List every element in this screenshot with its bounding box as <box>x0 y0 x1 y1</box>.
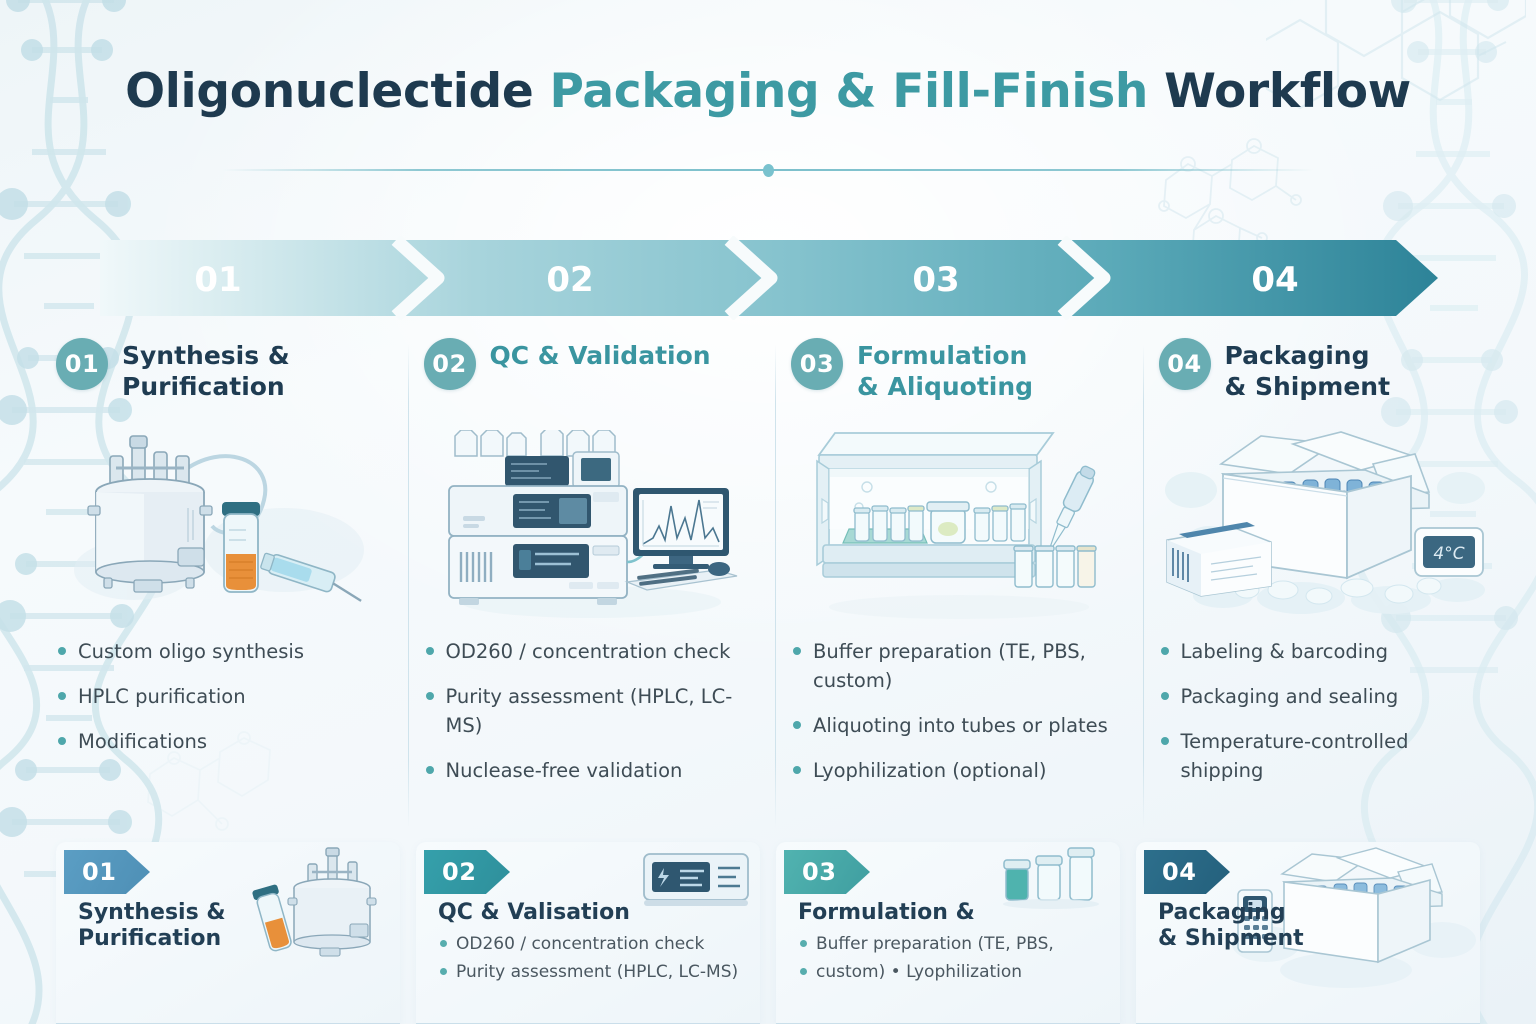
step-2-badge: 02 <box>424 338 476 390</box>
step-2-header: 02 QC & Validation <box>424 338 760 416</box>
list-item: Labeling & barcoding <box>1159 638 1495 667</box>
step-1-header: 01 Synthesis & Purification <box>56 338 392 416</box>
summary-card-2-ribbon: 02 <box>424 850 510 894</box>
summary-card-3-bullets: Buffer preparation (TE, PBS, custom) • L… <box>798 932 1110 983</box>
title-divider <box>222 164 1314 176</box>
step-4-title: Packaging & Shipment <box>1225 338 1391 402</box>
band-step-number-1: 01 <box>194 260 241 300</box>
list-item: Purity assessment (HPLC, LC-MS) <box>424 683 760 741</box>
step-4-bullet-list: Labeling & barcoding Packaging and seali… <box>1159 638 1495 785</box>
list-item: Buffer preparation (TE, PBS, <box>798 932 1110 956</box>
cold-shipping-box-ice-thermometer-illustration: 4°C <box>1159 424 1495 620</box>
band-step-number-3: 03 <box>912 260 959 300</box>
step-3-title-line1: Formulation <box>857 341 1033 372</box>
step-2-bullet-list: OD260 / concentration check Purity asses… <box>424 638 760 785</box>
step-1-bullet-list: Custom oligo synthesis HPLC purification… <box>56 638 392 757</box>
summary-card-4-ribbon: 04 <box>1144 850 1230 894</box>
list-item: Purity assessment (HPLC, LC-MS) <box>438 960 750 984</box>
hplc-instrument-computer-chromatogram-illustration <box>424 424 760 620</box>
step-4-title-line1: Packaging <box>1225 341 1391 372</box>
temperature-display-value: 4°C <box>1434 544 1465 564</box>
step-3-badge: 03 <box>791 338 843 390</box>
summary-card-1-title: Synthesis & Purification <box>78 900 390 953</box>
band-step-number-4: 04 <box>1251 260 1298 300</box>
summary-card-2[interactable]: 02 QC & Valisation OD260 / concentration… <box>416 842 760 1024</box>
summary-card-4-title: Packaging & Shipment <box>1158 900 1470 953</box>
summary-card-3[interactable]: 03 Formulation & Buffer preparation (TE,… <box>776 842 1120 1024</box>
step-4-title-line2: & Shipment <box>1225 372 1391 403</box>
workflow-step-2: 02 QC & Validation <box>408 338 776 828</box>
step-3-title-line2: & Aliquoting <box>857 372 1033 403</box>
summary-card-4-title-line1: Packaging <box>1158 900 1470 926</box>
summary-card-1-title-line2: Purification <box>78 926 390 952</box>
step-1-title: Synthesis & Purification <box>122 338 290 402</box>
title-part-2: Packaging & Fill-Finish <box>550 64 1165 119</box>
summary-card-2-body: QC & Valisation OD260 / concentration ch… <box>438 900 750 1018</box>
band-step-number-2: 02 <box>546 260 593 300</box>
list-item: HPLC purification <box>56 683 392 712</box>
workflow-step-1: 01 Synthesis & Purification <box>40 338 408 828</box>
divider-center-dot <box>763 164 774 177</box>
list-item: Lyophilization (optional) <box>791 757 1127 786</box>
summary-card-4-body: Packaging & Shipment <box>1158 900 1470 1018</box>
summary-card-2-title: QC & Valisation <box>438 900 750 926</box>
title-part-3: Workflow <box>1164 64 1411 119</box>
summary-card-row: 01 <box>56 842 1480 1024</box>
synthesis-reactor-vial-syringe-illustration <box>56 424 392 620</box>
step-2-title: QC & Validation <box>490 338 711 372</box>
step-4-header: 04 Packaging & Shipment <box>1159 338 1495 416</box>
summary-card-3-ribbon: 03 <box>784 850 870 894</box>
step-3-title: Formulation & Aliquoting <box>857 338 1033 402</box>
list-item: Modifications <box>56 728 392 757</box>
summary-card-1-title-line1: Synthesis & <box>78 900 390 926</box>
list-item: Buffer preparation (TE, PBS, custom) <box>791 638 1127 696</box>
step-1-title-line2: Purification <box>122 372 290 403</box>
step-1-title-line1: Synthesis & <box>122 341 290 372</box>
step-3-header: 03 Formulation & Aliquoting <box>791 338 1127 416</box>
step-2-title-line1: QC & Validation <box>490 341 711 372</box>
infographic-poster: Oligonuclectide Packaging & Fill-Finish … <box>0 0 1536 1024</box>
summary-card-4-title-line2: & Shipment <box>1158 926 1470 952</box>
summary-card-2-bullets: OD260 / concentration check Purity asses… <box>438 932 750 983</box>
title-part-1: Oligonuclectide <box>125 64 549 119</box>
process-chevron-band: 01 02 03 04 <box>100 236 1438 320</box>
list-item: Aliquoting into tubes or plates <box>791 712 1127 741</box>
step-3-bullet-list: Buffer preparation (TE, PBS, custom) Ali… <box>791 638 1127 785</box>
step-4-badge: 04 <box>1159 338 1211 390</box>
list-item: Custom oligo synthesis <box>56 638 392 667</box>
summary-card-3-title: Formulation & <box>798 900 1110 926</box>
workflow-step-4: 04 Packaging & Shipment <box>1143 338 1511 828</box>
summary-card-1-body: Synthesis & Purification <box>78 900 390 1018</box>
laminar-flow-hood-vials-pipette-illustration <box>791 424 1127 620</box>
list-item: Nuclease-free validation <box>424 757 760 786</box>
workflow-columns: 01 Synthesis & Purification <box>40 338 1510 828</box>
list-item: Temperature-controlled shipping <box>1159 728 1495 786</box>
step-1-badge: 01 <box>56 338 108 390</box>
summary-card-3-body: Formulation & Buffer preparation (TE, PB… <box>798 900 1110 1018</box>
page-title: Oligonuclectide Packaging & Fill-Finish … <box>0 66 1536 119</box>
summary-card-1-ribbon: 01 <box>64 850 150 894</box>
list-item: Packaging and sealing <box>1159 683 1495 712</box>
summary-card-4[interactable]: 04 <box>1136 842 1480 1024</box>
list-item: OD260 / concentration check <box>438 932 750 956</box>
summary-card-1[interactable]: 01 <box>56 842 400 1024</box>
workflow-step-3: 03 Formulation & Aliquoting <box>775 338 1143 828</box>
list-item: OD260 / concentration check <box>424 638 760 667</box>
list-item: custom) • Lyophilization <box>798 960 1110 984</box>
